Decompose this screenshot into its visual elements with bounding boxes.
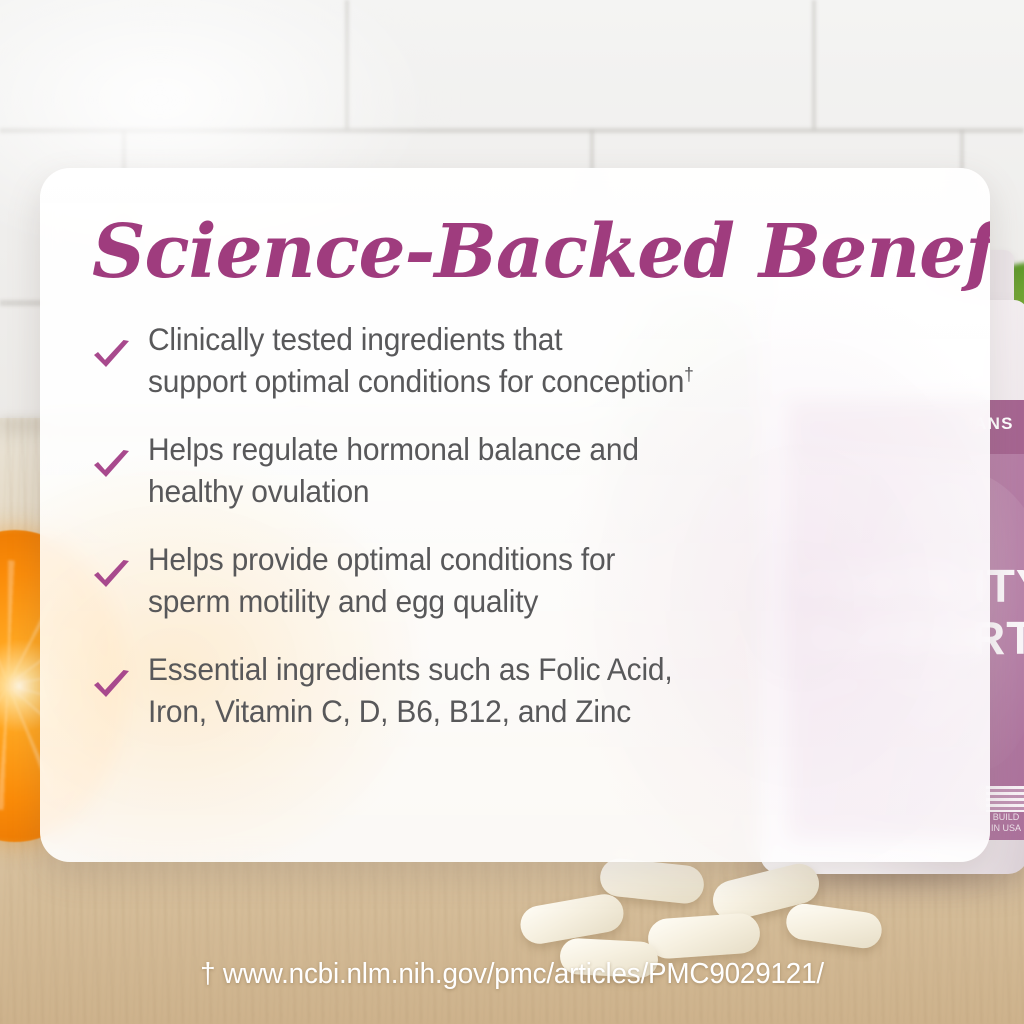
- benefit-line-1: Essential ingredients such as Folic Acid…: [148, 651, 672, 687]
- check-icon: [92, 648, 148, 704]
- benefit-line-1: Helps provide optimal conditions for: [148, 541, 615, 577]
- benefit-line-2: Iron, Vitamin C, D, B6, B12, and Zinc: [148, 693, 631, 729]
- list-item: Helps regulate hormonal balance andhealt…: [92, 428, 938, 512]
- check-icon: [92, 538, 148, 594]
- footnote-source-url: † www.ncbi.nlm.nih.gov/pmc/articles/PMC9…: [20, 958, 1003, 991]
- benefit-text: Helps provide optimal conditions forsper…: [148, 538, 615, 622]
- benefit-text: Clinically tested ingredients thatsuppor…: [148, 318, 694, 402]
- usa-flag-icon: [986, 786, 1024, 812]
- benefits-list: Clinically tested ingredients thatsuppor…: [92, 318, 938, 732]
- list-item: Essential ingredients such as Folic Acid…: [92, 648, 938, 732]
- benefit-text: Helps regulate hormonal balance andhealt…: [148, 428, 639, 512]
- benefit-line-1: Helps regulate hormonal balance and: [148, 431, 639, 467]
- capsule: [647, 912, 762, 960]
- benefit-line-2: support optimal conditions for conceptio…: [148, 363, 684, 399]
- benefit-line-2: sperm motility and egg quality: [148, 583, 538, 619]
- check-icon: [92, 318, 148, 374]
- benefit-line-2: healthy ovulation: [148, 473, 369, 509]
- check-icon: [92, 428, 148, 484]
- footnote-marker: †: [684, 364, 693, 385]
- benefit-line-1: Clinically tested ingredients that: [148, 321, 562, 357]
- page-title: Science-Backed Benefits: [92, 212, 938, 292]
- benefit-text: Essential ingredients such as Folic Acid…: [148, 648, 672, 732]
- benefits-card: Science-Backed Benefits Clinically teste…: [40, 168, 990, 862]
- list-item: Helps provide optimal conditions forsper…: [92, 538, 938, 622]
- list-item: Clinically tested ingredients thatsuppor…: [92, 318, 938, 402]
- tile-grout-line: [812, 0, 816, 130]
- promo-graphic: IANS FERTILITY SUPPORT DIETARY SUPPLEMEN…: [0, 0, 1024, 1024]
